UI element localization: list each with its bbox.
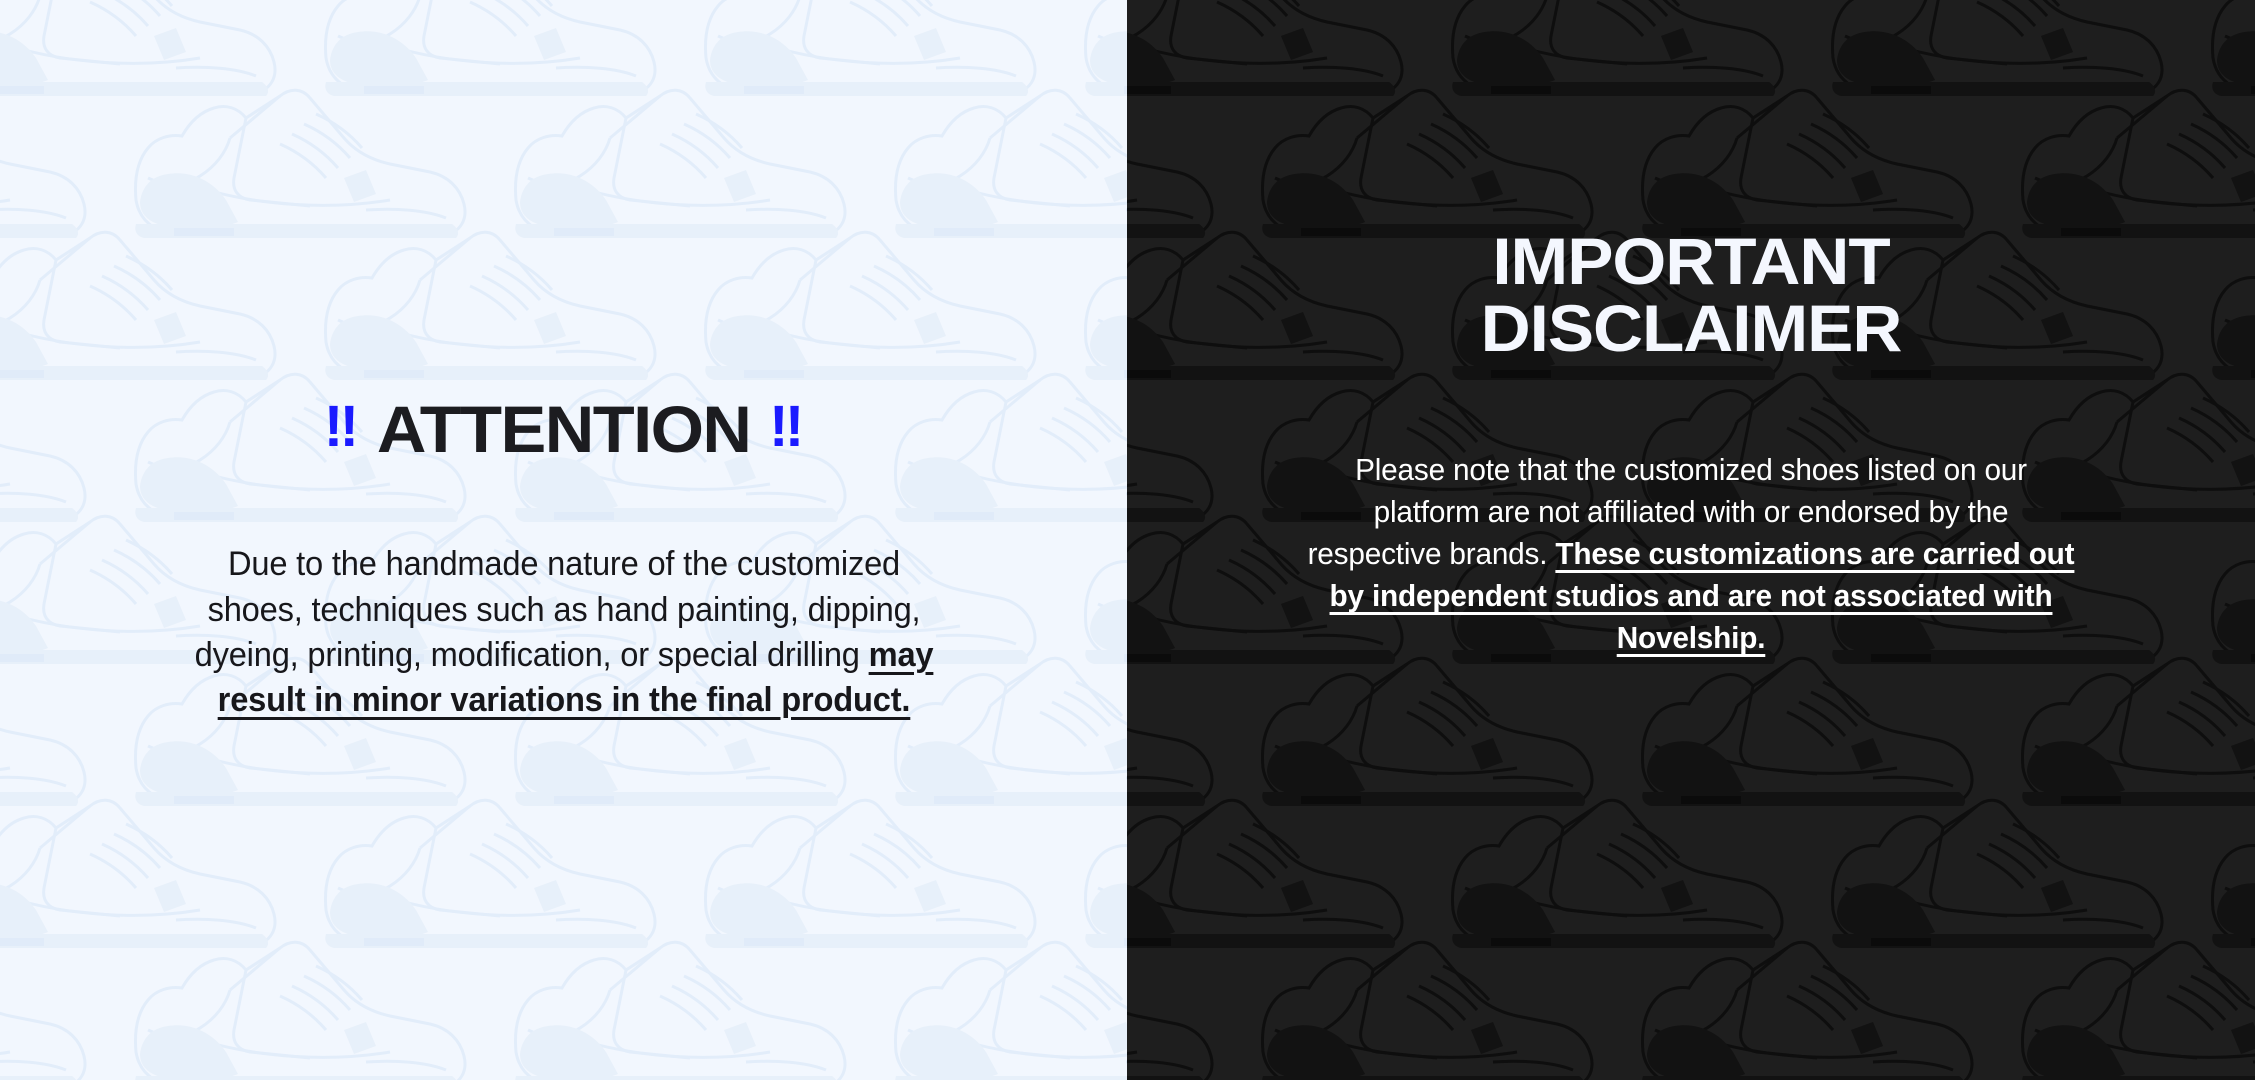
attention-body: Due to the handmade nature of the custom… <box>184 542 942 723</box>
disclaimer-banner: ‼ ATTENTION ‼ Due to the handmade nature… <box>0 0 2255 1080</box>
disclaimer-heading-line-1: IMPORTANT <box>1492 224 1889 298</box>
attention-panel: ‼ ATTENTION ‼ Due to the handmade nature… <box>0 0 1127 1080</box>
double-exclamation-mark-icon-right: ‼ <box>769 398 803 456</box>
disclaimer-body: Please note that the customized shoes li… <box>1307 449 2075 660</box>
attention-heading: ATTENTION <box>377 396 751 462</box>
disclaimer-heading: IMPORTANT DISCLAIMER <box>1219 228 2164 363</box>
disclaimer-panel: IMPORTANT DISCLAIMER Please note that th… <box>1127 0 2255 1080</box>
double-exclamation-mark-icon-left: ‼ <box>324 398 358 456</box>
disclaimer-heading-line-2: DISCLAIMER <box>1481 291 1902 365</box>
attention-body-normal: Due to the handmade nature of the custom… <box>194 545 920 673</box>
attention-heading-row: ‼ ATTENTION ‼ <box>324 352 803 506</box>
